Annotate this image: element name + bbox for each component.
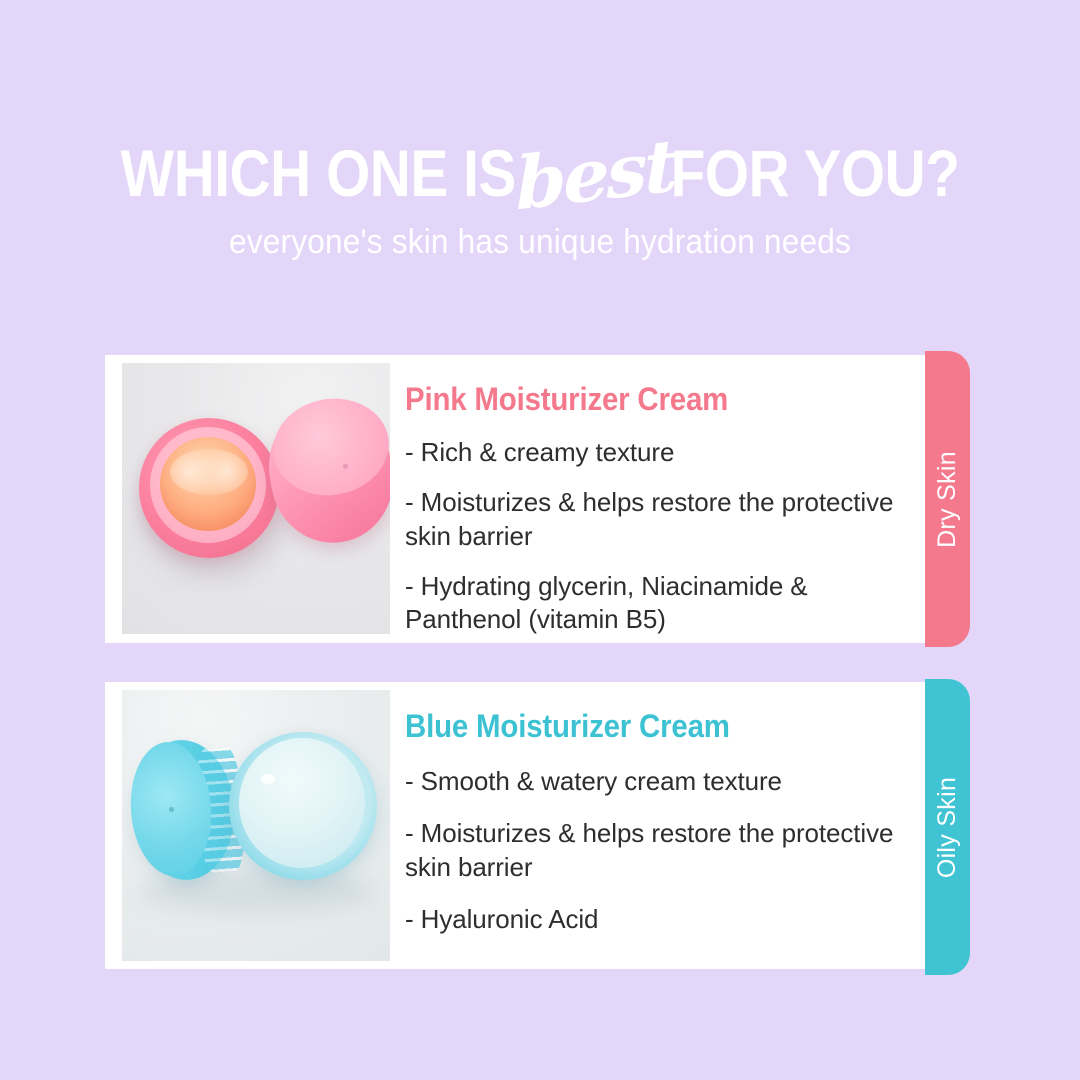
gel-highlight bbox=[261, 774, 275, 784]
product-title-blue: Blue Moisturizer Cream bbox=[405, 688, 870, 746]
feature-item: - Smooth & watery cream texture bbox=[405, 765, 910, 798]
headline-script-word: best bbox=[515, 125, 676, 225]
headline-part-two: FOR YOU? bbox=[671, 136, 960, 210]
product-image-blue bbox=[122, 690, 390, 961]
feature-item: - Moisturizes & helps restore the protec… bbox=[405, 817, 910, 884]
page-title: WHICH ONE ISbestFOR YOU? bbox=[76, 0, 1005, 211]
blue-jar-gel bbox=[239, 738, 365, 868]
feature-item: - Rich & creamy texture bbox=[405, 436, 910, 469]
feature-list-pink: - Rich & creamy texture - Moisturizes & … bbox=[405, 436, 910, 636]
feature-item: - Hydrating glycerin, Niacinamide & Pant… bbox=[405, 570, 910, 637]
feature-item: - Moisturizes & helps restore the protec… bbox=[405, 486, 910, 553]
feature-list-blue: - Smooth & watery cream texture - Moistu… bbox=[405, 765, 910, 936]
page-subtitle: everyone's skin has unique hydration nee… bbox=[38, 211, 1042, 262]
skin-type-tab-oily[interactable]: Oily Skin bbox=[925, 679, 970, 975]
lid-mark-dot bbox=[343, 464, 348, 469]
card-content-pink: Pink Moisturizer Cream - Rich & creamy t… bbox=[405, 361, 910, 636]
card-content-blue: Blue Moisturizer Cream - Smooth & watery… bbox=[405, 688, 910, 936]
header: WHICH ONE ISbestFOR YOU? everyone's skin… bbox=[0, 0, 1080, 262]
skin-type-tab-dry[interactable]: Dry Skin bbox=[925, 351, 970, 647]
product-card-blue[interactable]: Blue Moisturizer Cream - Smooth & watery… bbox=[105, 682, 970, 969]
skin-type-tab-label: Oily Skin bbox=[933, 776, 962, 877]
product-image-pink bbox=[122, 363, 390, 634]
product-title-pink: Pink Moisturizer Cream bbox=[405, 361, 870, 419]
headline-part-one: WHICH ONE IS bbox=[121, 136, 516, 210]
cream-swirl bbox=[170, 449, 248, 495]
lid-mark-dot bbox=[169, 807, 174, 812]
feature-item: - Hyaluronic Acid bbox=[405, 903, 910, 936]
product-card-pink[interactable]: Pink Moisturizer Cream - Rich & creamy t… bbox=[105, 355, 970, 643]
skin-type-tab-label: Dry Skin bbox=[933, 451, 962, 548]
